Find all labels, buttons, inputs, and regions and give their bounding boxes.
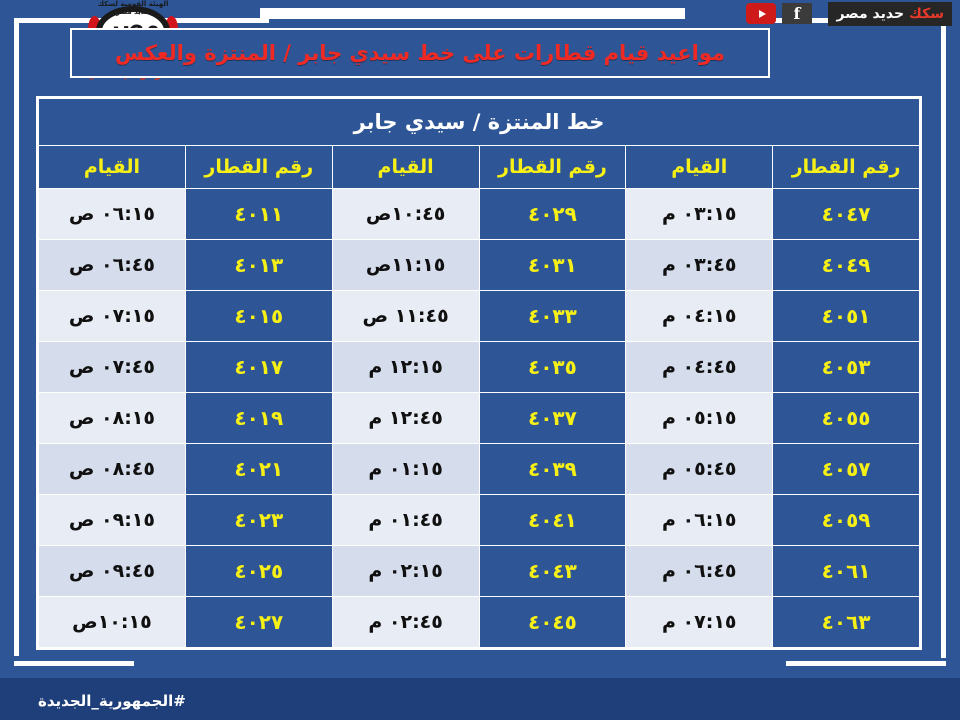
cell-departure-time: ٠١:٤٥ م <box>332 495 479 546</box>
column-header-time-2: القيام <box>332 146 479 189</box>
social-links: f <box>746 3 812 24</box>
cell-train-number: ٤٠٣٣ <box>479 291 626 342</box>
cell-departure-time: ٠٩:١٥ ص <box>39 495 186 546</box>
cell-train-number: ٤٠٥٥ <box>773 393 920 444</box>
frame-edge-left <box>14 86 19 656</box>
table-row: ٤٠٦٣٠٧:١٥ م٤٠٤٥٠٢:٤٥ م٤٠٢٧١٠:١٥ص <box>39 597 920 648</box>
schedule-table-container: خط المنتزة / سيدي جابر رقم القطار القيام… <box>36 96 922 650</box>
cell-departure-time: ٠٨:١٥ ص <box>39 393 186 444</box>
cell-departure-time: ٠٦:١٥ ص <box>39 189 186 240</box>
cell-departure-time: ٠٧:١٥ م <box>626 597 773 648</box>
cell-train-number: ٤٠١٧ <box>185 342 332 393</box>
cell-departure-time: ١٠:١٥ص <box>39 597 186 648</box>
facebook-icon[interactable]: f <box>782 3 812 24</box>
column-header-row: رقم القطار القيام رقم القطار القيام رقم … <box>39 146 920 189</box>
cell-departure-time: ٠٧:١٥ ص <box>39 291 186 342</box>
table-row: ٤٠٥٥٠٥:١٥ م٤٠٣٧١٢:٤٥ م٤٠١٩٠٨:١٥ ص <box>39 393 920 444</box>
table-row: ٤٠٥١٠٤:١٥ م٤٠٣٣١١:٤٥ ص٤٠١٥٠٧:١٥ ص <box>39 291 920 342</box>
brand-name-highlight: سكك <box>909 6 944 22</box>
table-row: ٤٠٥٧٠٥:٤٥ م٤٠٣٩٠١:١٥ م٤٠٢١٠٨:٤٥ ص <box>39 444 920 495</box>
cell-train-number: ٤٠٢١ <box>185 444 332 495</box>
cell-train-number: ٤٠٦٣ <box>773 597 920 648</box>
column-header-time-3: القيام <box>626 146 773 189</box>
cell-train-number: ٤٠٥٩ <box>773 495 920 546</box>
cell-departure-time: ٠٦:٤٥ م <box>626 546 773 597</box>
column-header-time-1: القيام <box>39 146 186 189</box>
cell-train-number: ٤٠٣١ <box>479 240 626 291</box>
table-row: ٤٠٤٩٠٣:٤٥ م٤٠٣١١١:١٥ص٤٠١٣٠٦:٤٥ ص <box>39 240 920 291</box>
column-header-train-2: رقم القطار <box>479 146 626 189</box>
top-bar-white-strip <box>260 8 685 19</box>
cell-train-number: ٤٠٢٩ <box>479 189 626 240</box>
column-header-train-3: رقم القطار <box>773 146 920 189</box>
cell-departure-time: ١١:٤٥ ص <box>332 291 479 342</box>
cell-departure-time: ٠١:١٥ م <box>332 444 479 495</box>
youtube-icon[interactable] <box>746 3 776 24</box>
cell-train-number: ٤٠٤٣ <box>479 546 626 597</box>
line-title: خط المنتزة / سيدي جابر <box>39 99 920 146</box>
poster-canvas: f سكك حديد مصر الهيئة القومية لسكك حديد … <box>0 0 960 720</box>
cell-train-number: ٤٠٣٩ <box>479 444 626 495</box>
cell-train-number: ٤٠٤١ <box>479 495 626 546</box>
cell-departure-time: ٠٩:٤٥ ص <box>39 546 186 597</box>
cell-departure-time: ١٢:٤٥ م <box>332 393 479 444</box>
cell-departure-time: ٠٦:١٥ م <box>626 495 773 546</box>
cell-departure-time: ٠٢:١٥ م <box>332 546 479 597</box>
cell-train-number: ٤٠٢٣ <box>185 495 332 546</box>
brand-name-rest: حديد مصر <box>836 6 904 22</box>
frame-edge-right <box>941 58 946 658</box>
cell-train-number: ٤٠٦١ <box>773 546 920 597</box>
column-header-train-1: رقم القطار <box>185 146 332 189</box>
cell-departure-time: ٠٦:٤٥ ص <box>39 240 186 291</box>
cell-departure-time: ٠٣:٤٥ م <box>626 240 773 291</box>
cell-departure-time: ٠٧:٤٥ ص <box>39 342 186 393</box>
cell-train-number: ٤٠١١ <box>185 189 332 240</box>
table-row: ٤٠٥٩٠٦:١٥ م٤٠٤١٠١:٤٥ م٤٠٢٣٠٩:١٥ ص <box>39 495 920 546</box>
cell-train-number: ٤٠٥١ <box>773 291 920 342</box>
cell-departure-time: ٠٤:١٥ م <box>626 291 773 342</box>
page-title: مواعيد قيام قطارات على خط سيدي جابر / ال… <box>115 41 725 65</box>
cell-departure-time: ٠٥:١٥ م <box>626 393 773 444</box>
cell-departure-time: ٠٨:٤٥ ص <box>39 444 186 495</box>
brand-name-chip: سكك حديد مصر <box>828 2 952 26</box>
cell-departure-time: ٠٥:٤٥ م <box>626 444 773 495</box>
cell-departure-time: ١٢:١٥ م <box>332 342 479 393</box>
facebook-glyph: f <box>794 6 801 22</box>
cell-train-number: ٤٠٣٧ <box>479 393 626 444</box>
table-head: خط المنتزة / سيدي جابر رقم القطار القيام… <box>39 99 920 189</box>
cell-train-number: ٤٠٣٥ <box>479 342 626 393</box>
frame-corner-bottom-right <box>786 661 946 666</box>
cell-departure-time: ٠٣:١٥ م <box>626 189 773 240</box>
cell-train-number: ٤٠١٩ <box>185 393 332 444</box>
schedule-table: خط المنتزة / سيدي جابر رقم القطار القيام… <box>38 98 920 648</box>
footer-hashtag: #الجمهورية_الجديدة <box>38 692 186 710</box>
table-row: ٤٠٤٧٠٣:١٥ م٤٠٢٩١٠:٤٥ص٤٠١١٠٦:١٥ ص <box>39 189 920 240</box>
cell-train-number: ٤٠٤٥ <box>479 597 626 648</box>
cell-train-number: ٤٠٤٧ <box>773 189 920 240</box>
cell-departure-time: ١٠:٤٥ص <box>332 189 479 240</box>
cell-departure-time: ٠٢:٤٥ م <box>332 597 479 648</box>
title-banner: مواعيد قيام قطارات على خط سيدي جابر / ال… <box>70 28 770 78</box>
cell-train-number: ٤٠٢٥ <box>185 546 332 597</box>
line-title-row: خط المنتزة / سيدي جابر <box>39 99 920 146</box>
cell-train-number: ٤٠١٥ <box>185 291 332 342</box>
frame-corner-bottom-left <box>14 661 134 666</box>
cell-train-number: ٤٠٤٩ <box>773 240 920 291</box>
table-row: ٤٠٦١٠٦:٤٥ م٤٠٤٣٠٢:١٥ م٤٠٢٥٠٩:٤٥ ص <box>39 546 920 597</box>
cell-train-number: ٤٠٥٧ <box>773 444 920 495</box>
cell-train-number: ٤٠١٣ <box>185 240 332 291</box>
cell-departure-time: ٠٤:٤٥ م <box>626 342 773 393</box>
cell-departure-time: ١١:١٥ص <box>332 240 479 291</box>
cell-train-number: ٤٠٥٣ <box>773 342 920 393</box>
play-triangle <box>759 10 766 18</box>
table-body: ٤٠٤٧٠٣:١٥ م٤٠٢٩١٠:٤٥ص٤٠١١٠٦:١٥ ص٤٠٤٩٠٣:٤… <box>39 189 920 648</box>
table-row: ٤٠٥٣٠٤:٤٥ م٤٠٣٥١٢:١٥ م٤٠١٧٠٧:٤٥ ص <box>39 342 920 393</box>
cell-train-number: ٤٠٢٧ <box>185 597 332 648</box>
